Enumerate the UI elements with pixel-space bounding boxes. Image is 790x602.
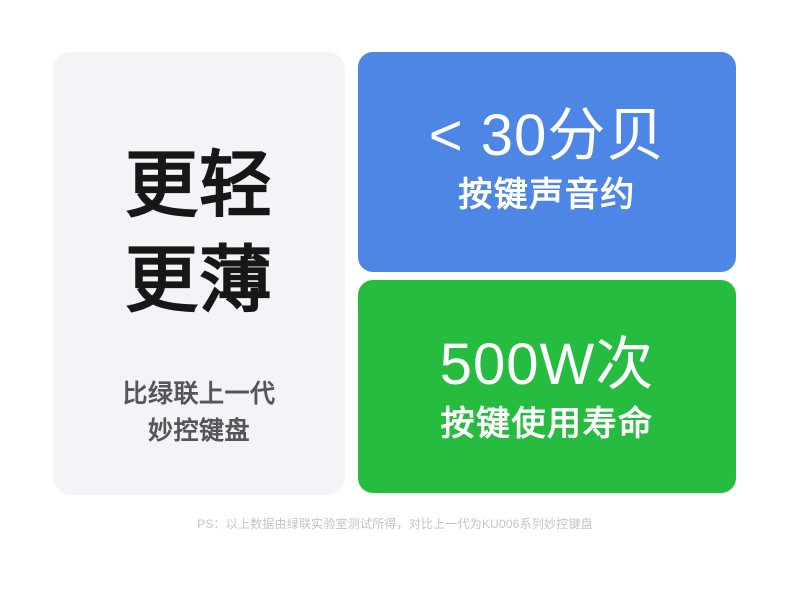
subtitle-line-1: 比绿联上一代 — [122, 376, 275, 413]
stat-card-noise-level: < 30分贝 按键声音约 — [358, 52, 736, 272]
footnote-disclaimer: PS：以上数据由绿联实验室测试所得，对比上一代为KU006系列妙控键盘 — [0, 514, 790, 534]
stat-card-key-lifespan: 500W次 按键使用寿命 — [358, 280, 736, 493]
stat-label-key-lifespan: 按键使用寿命 — [441, 403, 654, 445]
stat-value-noise-level: < 30分贝 — [429, 104, 666, 168]
promo-poster: 更轻 更薄 比绿联上一代 妙控键盘 < 30分贝 按键声音约 500W次 按键使… — [0, 0, 790, 602]
highlight-card-lighter-thinner: 更轻 更薄 比绿联上一代 妙控键盘 — [53, 52, 345, 495]
stat-value-key-lifespan: 500W次 — [440, 333, 655, 397]
subtitle-line-2: 妙控键盘 — [122, 413, 275, 450]
subtitle-group: 比绿联上一代 妙控键盘 — [122, 376, 275, 450]
headline-line-2: 更薄 — [125, 233, 273, 328]
stat-label-noise-level: 按键声音约 — [458, 174, 636, 216]
headline-group: 更轻 更薄 — [125, 138, 273, 328]
headline-line-1: 更轻 — [125, 138, 273, 233]
